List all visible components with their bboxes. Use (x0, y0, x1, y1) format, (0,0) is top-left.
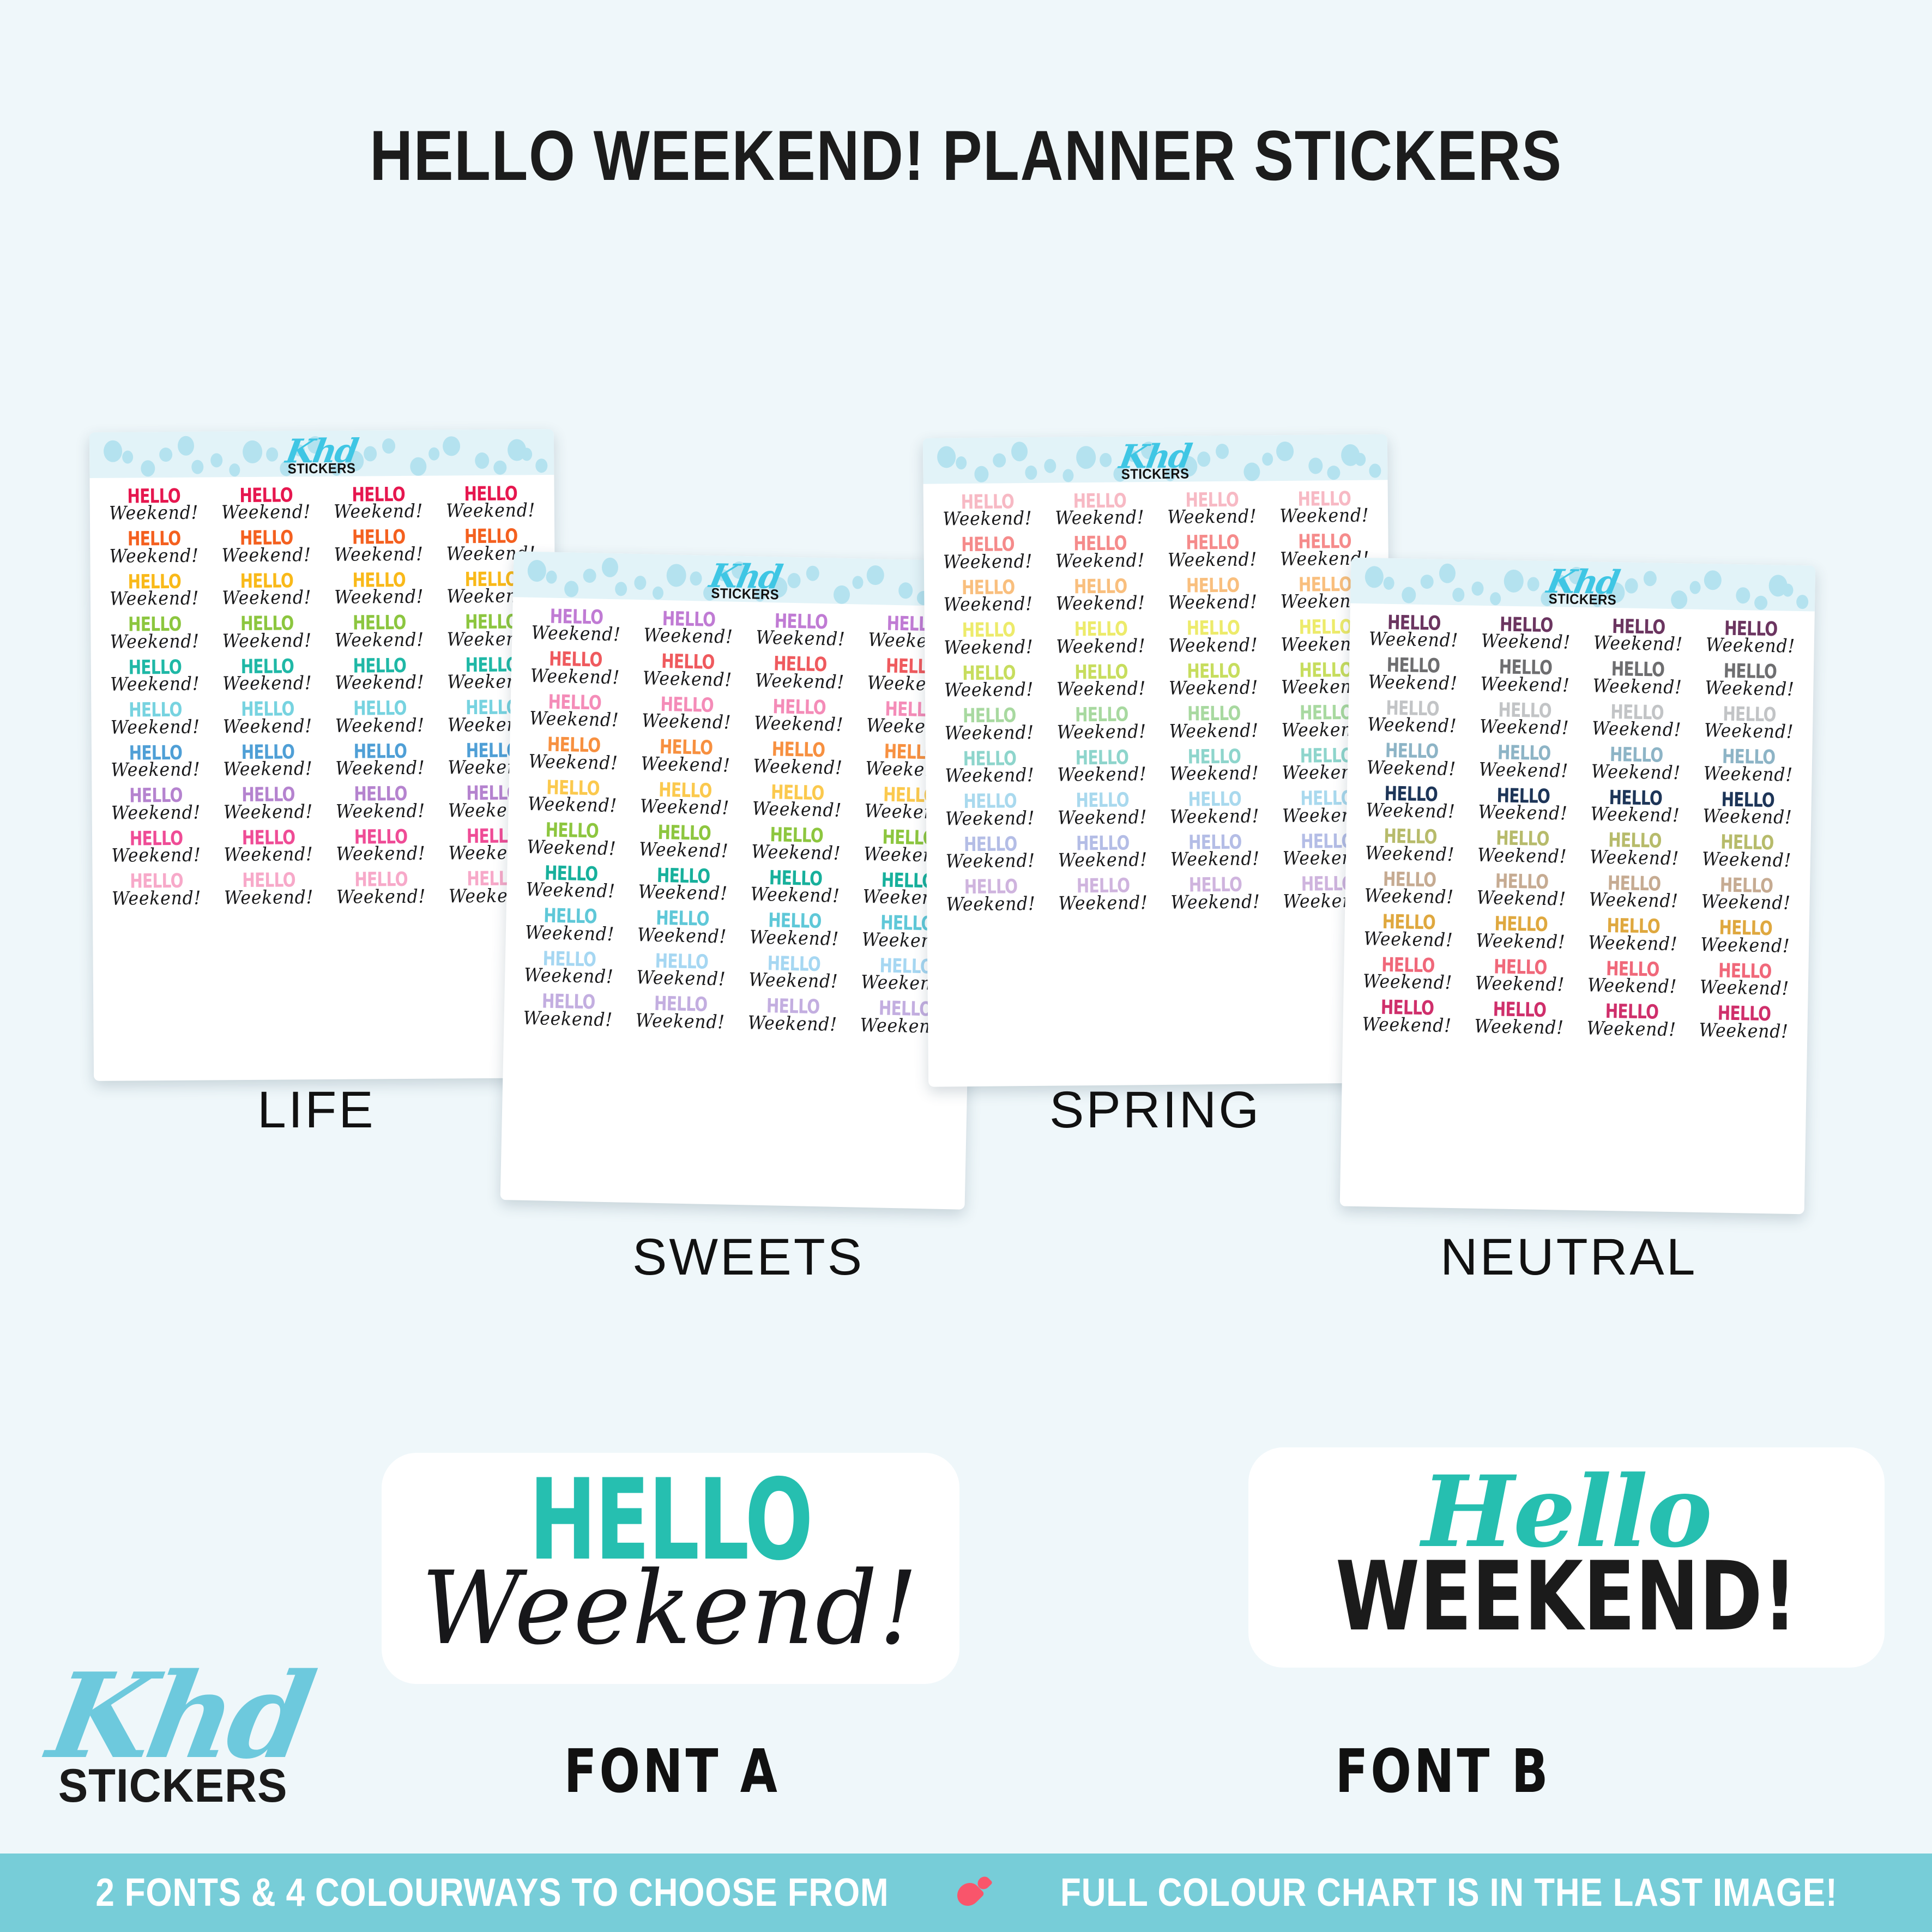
sticker-weekend: Weekend! (751, 843, 841, 862)
sticker-weekend: Weekend! (750, 886, 840, 905)
sticker-weekend: Weekend! (1167, 508, 1257, 527)
sheet-logo: Khd STICKERS (89, 429, 554, 478)
sheet-header: Khd STICKERS (513, 551, 979, 607)
sticker-weekend: Weekend! (336, 802, 425, 820)
sticker-grid: HELLOWeekend!HELLOWeekend!HELLOWeekend!H… (923, 480, 1392, 925)
sticker-sheet-neutral[interactable]: Khd STICKERS HELLOWeekend!HELLOWeekend!H… (1340, 558, 1816, 1215)
sticker-weekend: Weekend! (1056, 637, 1145, 656)
colourway-label-sweets: SWEETS (632, 1228, 864, 1287)
sticker-weekend: Weekend! (1703, 765, 1793, 784)
sticker-weekend: Weekend! (224, 889, 313, 907)
sticker-weekend: Weekend! (1169, 722, 1258, 740)
sticker-cell[interactable]: HELLOWeekend! (739, 868, 852, 907)
sticker-weekend: Weekend! (1702, 807, 1792, 826)
sticker-cell[interactable]: HELLOWeekend! (1157, 705, 1270, 742)
sticker-cell[interactable]: HELLOWeekend! (629, 738, 742, 776)
sticker-weekend: Weekend! (334, 588, 424, 606)
sticker-cell[interactable]: HELLOWeekend! (1043, 492, 1156, 529)
sticker-cell[interactable]: HELLOWeekend! (627, 823, 740, 862)
sticker-cell[interactable]: HELLOWeekend! (323, 571, 435, 608)
sticker-cell[interactable]: HELLOWeekend! (516, 778, 629, 817)
sticker-cell[interactable]: HELLOWeekend! (1044, 577, 1157, 614)
sticker-weekend: Weekend! (1363, 930, 1453, 949)
sticker-cell[interactable]: HELLOWeekend! (1578, 831, 1691, 869)
sticker-weekend: Weekend! (1366, 759, 1456, 778)
sticker-cell[interactable]: HELLOWeekend! (1688, 961, 1801, 999)
sticker-weekend: Weekend! (1368, 673, 1458, 692)
sticker-weekend: Weekend! (524, 923, 614, 943)
sticker-weekend: Weekend! (1478, 760, 1568, 780)
sticker-cell[interactable]: HELLOWeekend! (1466, 786, 1579, 824)
sticker-weekend: Weekend! (1477, 846, 1567, 865)
sticker-cell[interactable]: HELLOWeekend! (211, 657, 323, 695)
sticker-weekend: Weekend! (642, 712, 732, 732)
sticker-cell[interactable]: HELLOWeekend! (624, 994, 736, 1033)
sticker-weekend: Weekend! (1055, 509, 1144, 527)
sticker-weekend: Weekend! (1699, 1021, 1789, 1040)
sticker-weekend: Weekend! (1586, 1019, 1676, 1039)
sticker-weekend: Weekend! (943, 553, 1033, 571)
sticker-cell[interactable]: HELLOWeekend! (625, 909, 738, 947)
sticker-cell[interactable]: HELLOWeekend! (210, 486, 322, 523)
sticker-weekend: Weekend! (221, 503, 311, 521)
sticker-weekend: Weekend! (637, 926, 727, 946)
sticker-weekend: Weekend! (1590, 806, 1680, 825)
sticker-weekend: Weekend! (527, 838, 617, 858)
sticker-cell[interactable]: HELLOWeekend! (1353, 870, 1465, 908)
sticker-weekend: Weekend! (749, 928, 839, 948)
sticker-cell[interactable]: HELLOWeekend! (212, 871, 324, 908)
sticker-cell[interactable]: HELLOWeekend! (738, 911, 850, 950)
sticker-cell[interactable]: HELLOWeekend! (932, 621, 1045, 658)
sticker-cell[interactable]: HELLOWeekend! (1045, 705, 1158, 742)
sticker-weekend: Weekend! (756, 629, 846, 649)
sticker-weekend: Weekend! (529, 710, 619, 729)
sticker-cell[interactable]: HELLOWeekend! (1581, 617, 1694, 655)
sticker-cell[interactable]: HELLOWeekend! (1692, 747, 1804, 786)
sticker-cell[interactable]: HELLOWeekend! (323, 657, 436, 694)
sticker-sheet-life[interactable]: Khd STICKERS HELLOWeekend!HELLOWeekend!H… (89, 429, 558, 1081)
sticker-cell[interactable]: HELLOWeekend! (1045, 620, 1157, 657)
sticker-weekend: Weekend! (334, 631, 424, 649)
sticker-cell[interactable]: HELLOWeekend! (1046, 791, 1158, 828)
sticker-cell[interactable]: HELLOWeekend! (1579, 788, 1692, 826)
sticker-weekend: Weekend! (1701, 893, 1791, 912)
sticker-weekend: Weekend! (944, 638, 1033, 657)
sticker-cell[interactable]: HELLOWeekend! (211, 700, 323, 737)
sticker-cell[interactable]: HELLOWeekend! (934, 835, 1047, 872)
sticker-cell[interactable]: HELLOWeekend! (1468, 701, 1581, 739)
sticker-cell[interactable]: HELLOWeekend! (931, 493, 1044, 530)
banner-text-after: FULL COLOUR CHART IS IN THE LAST IMAGE! (1060, 1870, 1838, 1915)
sticker-cell[interactable]: HELLOWeekend! (511, 992, 624, 1031)
sticker-cell[interactable]: HELLOWeekend! (1355, 741, 1468, 780)
sticker-weekend: Weekend! (1592, 720, 1682, 739)
sticker-sheet-sweets[interactable]: Khd STICKERS HELLOWeekend!HELLOWeekend!H… (500, 551, 979, 1210)
sticker-cell[interactable]: HELLOWeekend! (515, 821, 628, 860)
sheet-logo: Khd STICKERS (923, 434, 1388, 484)
page-title: HELLO WEEKEND! PLANNER STICKERS (155, 114, 1778, 196)
sticker-weekend: Weekend! (1702, 850, 1792, 870)
sticker-weekend: Weekend! (1478, 804, 1568, 823)
sticker-weekend: Weekend! (1362, 1016, 1452, 1035)
sticker-cell[interactable]: HELLOWeekend! (1575, 959, 1688, 998)
sticker-cell[interactable]: HELLOWeekend! (1351, 956, 1464, 994)
sticker-cell[interactable]: HELLOWeekend! (1465, 872, 1578, 910)
sticker-cell[interactable]: HELLOWeekend! (631, 652, 744, 691)
sticker-weekend: Weekend! (1474, 1017, 1564, 1036)
sticker-weekend: Weekend! (747, 1014, 837, 1034)
bottom-banner: 2 FONTS & 4 COLOURWAYS TO CHOOSE FROM FU… (0, 1853, 1932, 1932)
sticker-cell[interactable]: HELLOWeekend! (1690, 833, 1803, 871)
sticker-weekend: Weekend! (111, 761, 200, 779)
sticker-weekend: Weekend! (1057, 765, 1146, 784)
sticker-weekend: Weekend! (1365, 844, 1455, 864)
sticker-cell[interactable]: HELLOWeekend! (322, 528, 434, 565)
sticker-weekend: Weekend! (1364, 887, 1454, 906)
sticker-weekend: Weekend! (111, 847, 201, 865)
stickers-wordmark: STICKERS (1549, 591, 1617, 607)
khd-wordmark: Khd (41, 1657, 318, 1774)
sticker-weekend: Weekend! (1055, 594, 1145, 613)
sticker-cell[interactable]: HELLOWeekend! (737, 954, 850, 993)
font-sample-b: Hello WEEKEND! (1248, 1447, 1885, 1668)
sheet-header: Khd STICKERS (1350, 558, 1815, 612)
sticker-cell[interactable]: HELLOWeekend! (99, 701, 211, 738)
sticker-weekend: Weekend! (945, 852, 1035, 871)
sticker-cell[interactable]: HELLOWeekend! (1577, 916, 1689, 955)
sticker-weekend: Weekend! (222, 674, 312, 692)
sticker-weekend: Weekend! (1366, 801, 1456, 820)
sticker-weekend: Weekend! (642, 669, 732, 689)
sticker-weekend: Weekend! (335, 716, 424, 734)
sticker-weekend: Weekend! (334, 503, 423, 521)
sticker-grid: HELLOWeekend!HELLOWeekend!HELLOWeekend!H… (89, 475, 557, 919)
sticker-cell[interactable]: HELLOWeekend! (100, 872, 212, 909)
sticker-cell[interactable]: HELLOWeekend! (210, 529, 322, 566)
brand-logo: Khd STICKERS (52, 1657, 308, 1821)
sticker-weekend: Weekend! (1705, 679, 1795, 698)
sticker-cell[interactable]: HELLOWeekend! (98, 487, 210, 524)
sticker-cell[interactable]: HELLOWeekend! (322, 486, 434, 523)
sticker-weekend: Weekend! (1588, 934, 1678, 953)
sticker-cell[interactable]: HELLOWeekend! (1158, 833, 1271, 870)
sticker-weekend: Weekend! (1058, 894, 1148, 913)
sticker-weekend: Weekend! (943, 595, 1033, 614)
sticker-weekend: Weekend! (335, 759, 425, 777)
sticker-weekend: Weekend! (1168, 594, 1257, 612)
sticker-cell[interactable]: HELLOWeekend! (99, 787, 212, 824)
sticker-weekend: Weekend! (222, 632, 311, 650)
sticker-weekend: Weekend! (1058, 808, 1147, 827)
sticker-weekend: Weekend! (336, 887, 426, 905)
sticker-cell[interactable]: HELLOWeekend! (932, 664, 1045, 701)
sticker-cell[interactable]: HELLOWeekend! (1691, 790, 1804, 829)
sticker-cell[interactable]: HELLOWeekend! (1577, 874, 1690, 912)
stickers-wordmark: STICKERS (288, 461, 356, 476)
sticker-weekend: Weekend! (446, 502, 535, 520)
sticker-cell[interactable]: HELLOWeekend! (933, 707, 1046, 744)
sticker-weekend: Weekend! (1169, 679, 1258, 698)
font-a-weekend: Weekend! (421, 1561, 919, 1657)
sticker-weekend: Weekend! (1168, 551, 1257, 569)
sticker-cell[interactable]: HELLOWeekend! (518, 692, 631, 731)
sticker-weekend: Weekend! (222, 589, 311, 607)
sticker-cell[interactable]: HELLOWeekend! (323, 699, 436, 736)
sticker-weekend: Weekend! (946, 895, 1035, 914)
sticker-cell[interactable]: HELLOWeekend! (931, 535, 1044, 572)
sticker-cell[interactable]: HELLOWeekend! (1694, 619, 1807, 657)
sticker-cell[interactable]: HELLOWeekend! (630, 695, 743, 734)
colourway-label-life: LIFE (257, 1080, 376, 1140)
sticker-cell[interactable]: HELLOWeekend! (1047, 877, 1160, 914)
sticker-cell[interactable]: HELLOWeekend! (324, 871, 437, 908)
sticker-cell[interactable]: HELLOWeekend! (1354, 827, 1466, 865)
sticker-sheet-spring[interactable]: Khd STICKERS HELLOWeekend!HELLOWeekend!H… (923, 434, 1393, 1086)
sticker-weekend: Weekend! (1589, 891, 1679, 910)
sticker-cell[interactable]: HELLOWeekend! (434, 485, 547, 522)
sticker-weekend: Weekend! (1170, 807, 1259, 826)
sticker-cell[interactable]: HELLOWeekend! (1689, 919, 1802, 957)
sticker-cell[interactable]: HELLOWeekend! (99, 744, 212, 781)
sticker-cell[interactable]: HELLOWeekend! (323, 614, 435, 651)
sticker-weekend: Weekend! (748, 971, 838, 991)
sticker-cell[interactable]: HELLOWeekend! (1356, 656, 1469, 694)
stickers-wordmark: STICKERS (1121, 466, 1190, 481)
sticker-weekend: Weekend! (754, 715, 844, 734)
sticker-cell[interactable]: HELLOWeekend! (1469, 615, 1582, 653)
sticker-weekend: Weekend! (1705, 636, 1795, 655)
sticker-cell[interactable]: HELLOWeekend! (933, 750, 1046, 787)
sticker-weekend: Weekend! (223, 760, 312, 778)
colourway-label-spring: SPRING (1049, 1080, 1261, 1140)
sticker-cell[interactable]: HELLOWeekend! (1354, 784, 1467, 823)
sheet-header: Khd STICKERS (923, 434, 1388, 484)
sticker-cell[interactable]: HELLOWeekend! (1357, 613, 1470, 651)
sticker-weekend: Weekend! (222, 717, 312, 735)
sticker-cell[interactable]: HELLOWeekend! (212, 786, 324, 823)
sticker-weekend: Weekend! (1056, 680, 1146, 698)
sticker-weekend: Weekend! (639, 841, 729, 860)
sticker-weekend: Weekend! (1368, 630, 1458, 649)
sticker-weekend: Weekend! (943, 510, 1032, 528)
sticker-weekend: Weekend! (111, 804, 201, 822)
sticker-cell[interactable]: HELLOWeekend! (98, 530, 210, 567)
sticker-cell[interactable]: HELLOWeekend! (1156, 576, 1269, 613)
sticker-cell[interactable]: HELLOWeekend! (1580, 703, 1693, 741)
sticker-weekend: Weekend! (1363, 973, 1453, 992)
sticker-cell[interactable]: HELLOWeekend! (1158, 790, 1271, 828)
sticker-cell[interactable]: HELLOWeekend! (744, 612, 857, 650)
sticker-cell[interactable]: HELLOWeekend! (98, 572, 210, 609)
sticker-cell[interactable]: HELLOWeekend! (518, 650, 631, 689)
sticker-cell[interactable]: HELLOWeekend! (324, 785, 436, 822)
sticker-cell[interactable]: HELLOWeekend! (324, 828, 437, 865)
sticker-weekend: Weekend! (1590, 848, 1680, 867)
sticker-cell[interactable]: HELLOWeekend! (212, 743, 324, 780)
sticker-cell[interactable]: HELLOWeekend! (212, 829, 324, 866)
sticker-weekend: Weekend! (1056, 723, 1146, 741)
sticker-weekend: Weekend! (1168, 636, 1258, 655)
sticker-cell[interactable]: HELLOWeekend! (1356, 699, 1469, 737)
sticker-cell[interactable]: HELLOWeekend! (628, 781, 741, 819)
sheet-logo: Khd STICKERS (1350, 558, 1815, 612)
sticker-cell[interactable]: HELLOWeekend! (1687, 1004, 1800, 1042)
sticker-weekend: Weekend! (752, 800, 842, 820)
stickers-wordmark: STICKERS (58, 1762, 301, 1809)
sticker-cell[interactable]: HELLOWeekend! (742, 697, 855, 736)
sticker-weekend: Weekend! (1476, 889, 1566, 908)
sticker-cell[interactable]: HELLOWeekend! (1268, 490, 1381, 527)
sticker-grid: HELLOWeekend!HELLOWeekend!HELLOWeekend!H… (504, 597, 977, 1048)
sticker-cell[interactable]: HELLOWeekend! (1158, 747, 1271, 784)
sticker-weekend: Weekend! (109, 504, 198, 522)
sticker-cell[interactable]: HELLOWeekend! (1156, 534, 1269, 571)
sticker-cell[interactable]: HELLOWeekend! (736, 997, 849, 1035)
sticker-weekend: Weekend! (1055, 552, 1145, 570)
sticker-weekend: Weekend! (110, 675, 200, 693)
sticker-cell[interactable]: HELLOWeekend! (1466, 829, 1579, 867)
colourway-label-neutral: NEUTRAL (1440, 1228, 1697, 1287)
sticker-cell[interactable]: HELLOWeekend! (625, 952, 738, 991)
sticker-weekend: Weekend! (944, 681, 1034, 699)
font-b-weekend: WEEKEND! (1336, 1552, 1797, 1643)
sticker-cell[interactable]: HELLOWeekend! (1689, 876, 1802, 914)
sticker-weekend: Weekend! (1170, 893, 1260, 911)
sticker-cell[interactable]: HELLOWeekend! (1350, 998, 1463, 1036)
sticker-weekend: Weekend! (1704, 722, 1794, 741)
sticker-cell[interactable]: HELLOWeekend! (740, 825, 853, 864)
sticker-weekend: Weekend! (224, 846, 313, 864)
sticker-weekend: Weekend! (335, 674, 424, 692)
sticker-cell[interactable]: HELLOWeekend! (934, 792, 1047, 829)
sticker-cell[interactable]: HELLOWeekend! (740, 783, 853, 822)
font-a-caption: FONT A (564, 1736, 780, 1806)
sticker-cell[interactable]: HELLOWeekend! (210, 572, 323, 609)
heart-icon (956, 1876, 995, 1910)
sticker-cell[interactable]: HELLOWeekend! (1464, 957, 1577, 995)
sticker-cell[interactable]: HELLOWeekend! (98, 615, 210, 653)
sticker-weekend: Weekend! (641, 755, 730, 775)
sticker-weekend: Weekend! (1480, 675, 1570, 694)
sticker-weekend: Weekend! (527, 795, 617, 815)
font-b-caption: FONT B (1335, 1736, 1550, 1806)
sticker-weekend: Weekend! (110, 718, 200, 736)
sticker-cell[interactable]: HELLOWeekend! (743, 655, 856, 693)
sticker-cell[interactable]: HELLOWeekend! (741, 740, 854, 779)
sheet-header: Khd STICKERS (89, 429, 554, 478)
sticker-outline: Hello WEEKEND! (1248, 1447, 1885, 1668)
sticker-cell[interactable]: HELLOWeekend! (1581, 660, 1694, 698)
sticker-weekend: Weekend! (1480, 718, 1569, 737)
sticker-cell[interactable]: HELLOWeekend! (1467, 744, 1580, 782)
sticker-cell[interactable]: HELLOWeekend! (512, 949, 625, 988)
sticker-cell[interactable]: HELLOWeekend! (1464, 915, 1577, 953)
sticker-weekend: Weekend! (754, 672, 844, 691)
sticker-cell[interactable]: HELLOWeekend! (1463, 1000, 1575, 1039)
sticker-weekend: Weekend! (109, 547, 198, 565)
sticker-cell[interactable]: HELLOWeekend! (520, 607, 632, 645)
sticker-cell[interactable]: HELLOWeekend! (1045, 663, 1157, 700)
sticker-weekend: Weekend! (944, 724, 1034, 742)
sticker-weekend: Weekend! (523, 1009, 613, 1029)
sticker-weekend: Weekend! (110, 590, 199, 608)
sticker-cell[interactable]: HELLOWeekend! (934, 878, 1047, 915)
sticker-cell[interactable]: HELLOWeekend! (1579, 745, 1692, 783)
sticker-cell[interactable]: HELLOWeekend! (1352, 913, 1465, 951)
sticker-weekend: Weekend! (1587, 976, 1677, 995)
sticker-cell[interactable]: HELLOWeekend! (514, 864, 627, 902)
sticker-weekend: Weekend! (1476, 932, 1566, 951)
sticker-cell[interactable]: HELLOWeekend! (1159, 876, 1272, 913)
sticker-weekend: Weekend! (110, 632, 199, 650)
sticker-cell[interactable]: HELLOWeekend! (1693, 662, 1806, 700)
sticker-weekend: Weekend! (1367, 716, 1457, 735)
sticker-weekend: Weekend! (524, 967, 614, 986)
sticker-cell[interactable]: HELLOWeekend! (1043, 535, 1156, 572)
sticker-weekend: Weekend! (639, 798, 729, 817)
sticker-cell[interactable]: HELLOWeekend! (1693, 705, 1806, 743)
sticker-cell[interactable]: HELLOWeekend! (99, 658, 211, 695)
sticker-weekend: Weekend! (945, 810, 1035, 828)
sticker-weekend: Weekend! (1279, 507, 1369, 526)
sticker-cell[interactable]: HELLOWeekend! (514, 907, 626, 945)
sticker-cell[interactable]: HELLOWeekend! (626, 866, 739, 905)
sticker-weekend: Weekend! (945, 766, 1034, 785)
sticker-cell[interactable]: HELLOWeekend! (1469, 658, 1581, 696)
sticker-weekend: Weekend! (224, 803, 313, 821)
sticker-weekend: Weekend! (643, 626, 733, 646)
sticker-weekend: Weekend! (221, 546, 311, 564)
sticker-cell[interactable]: HELLOWeekend! (1575, 1002, 1688, 1040)
sticker-cell[interactable]: HELLOWeekend! (632, 609, 745, 648)
sticker-cell[interactable]: HELLOWeekend! (1046, 834, 1159, 871)
sticker-outline: HELLO Weekend! (382, 1453, 959, 1684)
sticker-weekend: Weekend! (1475, 975, 1565, 994)
sticker-cell[interactable]: HELLOWeekend! (100, 829, 212, 866)
sticker-weekend: Weekend! (334, 545, 423, 563)
sticker-weekend: Weekend! (1700, 936, 1790, 955)
sticker-cell[interactable]: HELLOWeekend! (932, 578, 1045, 615)
sticker-cell[interactable]: HELLOWeekend! (1157, 662, 1270, 699)
sticker-weekend: Weekend! (1481, 632, 1571, 651)
sticker-weekend: Weekend! (530, 667, 620, 687)
sticker-cell[interactable]: HELLOWeekend! (517, 735, 630, 774)
sticker-weekend: Weekend! (1591, 763, 1681, 782)
stickers-wordmark: STICKERS (711, 586, 779, 602)
sticker-grid: HELLOWeekend!HELLOWeekend!HELLOWeekend!H… (1343, 603, 1815, 1053)
sticker-cell[interactable]: HELLOWeekend! (210, 614, 323, 651)
font-sample-a: HELLO Weekend! (382, 1453, 959, 1684)
sticker-weekend: Weekend! (636, 969, 726, 988)
sticker-weekend: Weekend! (753, 757, 843, 777)
sticker-weekend: Weekend! (1593, 635, 1683, 654)
sticker-weekend: Weekend! (1592, 677, 1682, 696)
sticker-cell[interactable]: HELLOWeekend! (1046, 748, 1158, 786)
banner-text-before: 2 FONTS & 4 COLOURWAYS TO CHOOSE FROM (96, 1870, 889, 1915)
sticker-weekend: Weekend! (1170, 850, 1259, 868)
sticker-cell[interactable]: HELLOWeekend! (324, 742, 436, 779)
sticker-weekend: Weekend! (1058, 851, 1147, 870)
sticker-weekend: Weekend! (1699, 979, 1789, 998)
sticker-weekend: Weekend! (1169, 764, 1259, 783)
sticker-weekend: Weekend! (336, 845, 425, 863)
sticker-weekend: Weekend! (526, 881, 615, 901)
sticker-cell[interactable]: HELLOWeekend! (1157, 619, 1270, 656)
sticker-weekend: Weekend! (635, 1012, 725, 1031)
sticker-cell[interactable]: HELLOWeekend! (1156, 491, 1269, 528)
sticker-weekend: Weekend! (528, 752, 618, 772)
